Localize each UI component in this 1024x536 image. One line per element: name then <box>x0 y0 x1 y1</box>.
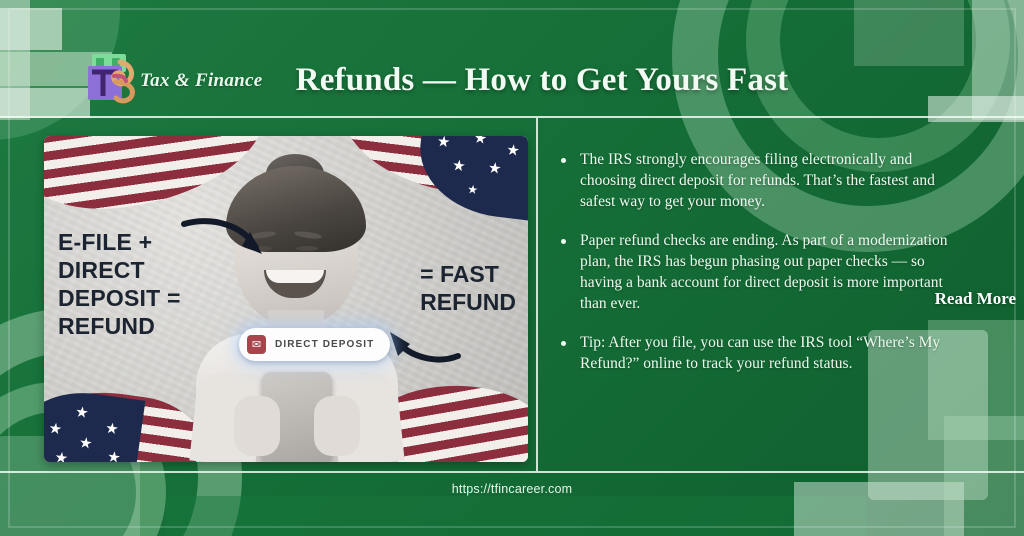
inner-frame-border <box>8 8 1016 528</box>
poster-canvas: Tax & Finance Refunds — How to Get Yours… <box>0 0 1024 536</box>
